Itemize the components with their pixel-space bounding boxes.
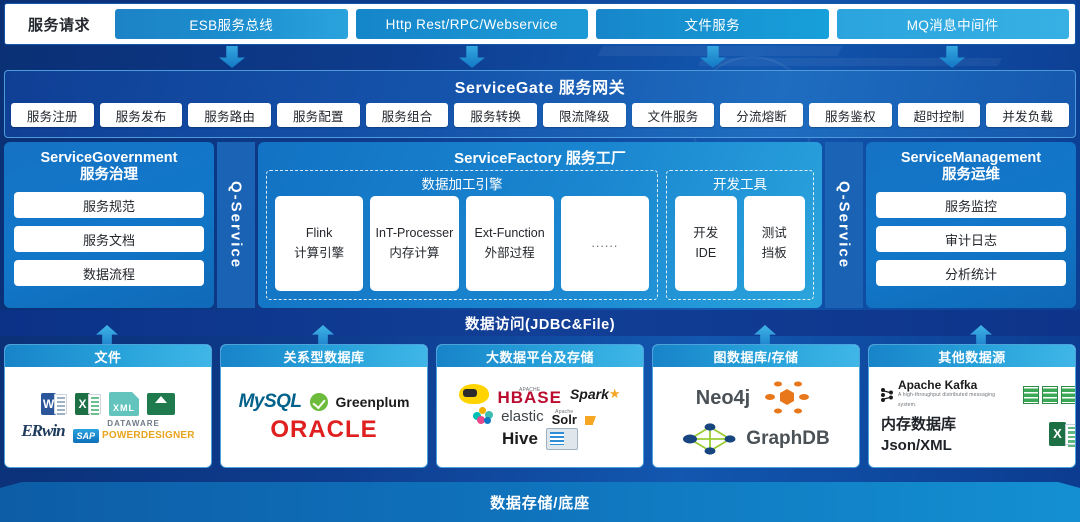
graphdb-logo: GraphDB — [746, 428, 829, 450]
engine-cell-ext-function[interactable]: Ext-Function 外部过程 — [466, 196, 554, 291]
engine-cell-int-processer-top: InT-Processer — [375, 226, 453, 241]
xml-icon: XML — [109, 392, 139, 416]
gate-capability-throttle[interactable]: 限流降级 — [543, 103, 626, 127]
service-request-label: 服务请求 — [11, 14, 107, 35]
elastic-logo: elastic — [501, 408, 544, 425]
tools-cell-ide-top: 开发 — [693, 226, 718, 241]
source-panel-other: 其他数据源 Apache Kafka A high-throu — [868, 344, 1076, 468]
governance-item-doc[interactable]: 服务文档 — [14, 226, 204, 252]
flow-arrow-down-icon — [219, 46, 245, 68]
source-panel-bigdata-title: 大数据平台及存储 — [437, 345, 643, 367]
gate-capability-circuitbreak[interactable]: 分流熔断 — [720, 103, 803, 127]
q-service-left-label: Q-Service — [228, 181, 245, 269]
dev-tools-cells: 开发 IDE 测试 挡板 — [675, 196, 805, 291]
kafka-mark-icon — [879, 387, 895, 403]
channel-http[interactable]: Http Rest/RPC/Webservice — [356, 9, 589, 39]
gate-capability-register[interactable]: 服务注册 — [11, 103, 94, 127]
engine-cell-flink-top: Flink — [306, 226, 332, 241]
other-logo-row-1: Apache Kafka A high-throughput distribut… — [873, 380, 1076, 410]
engine-cell-more[interactable]: ...... — [561, 196, 649, 291]
service-factory-panel: ServiceFactory 服务工厂 数据加工引擎 Flink 计算引擎 In… — [258, 142, 822, 308]
source-panel-bigdata: 大数据平台及存储 APACHE HBASE Spark ★ — [436, 344, 644, 468]
gate-capability-route[interactable]: 服务路由 — [188, 103, 271, 127]
excel-icon: X — [75, 393, 101, 415]
graph-logo-row-2: GraphDB — [657, 422, 855, 456]
graph-logo-row-1: Neo4j — [657, 379, 855, 419]
solr-logo: Solr — [552, 416, 577, 424]
source-panel-other-title: 其他数据源 — [869, 345, 1075, 367]
source-panel-relational-db-body: MySQL Greenplum ORACLE — [221, 367, 427, 467]
erwin-logo: ERwin — [21, 421, 64, 441]
tools-cell-test[interactable]: 测试 挡板 — [744, 196, 806, 291]
gate-capability-timeout[interactable]: 超时控制 — [898, 103, 981, 127]
hive-logo: Hive — [502, 429, 538, 449]
hadoop-hive-logo — [459, 384, 489, 404]
in-memory-db-label: 内存数据库 — [881, 413, 956, 434]
tools-cell-ide-bottom: IDE — [695, 246, 716, 261]
data-storage-base-label: 数据存储/底座 — [490, 492, 590, 513]
service-factory-title: ServiceFactory 服务工厂 — [266, 148, 814, 170]
bigdata-logo-row-3: Hive — [441, 428, 639, 450]
tools-cell-test-bottom: 挡板 — [762, 246, 787, 261]
source-panel-relational-db: 关系型数据库 MySQL Greenplum ORACLE — [220, 344, 428, 468]
greenplum-logo: Greenplum — [336, 394, 410, 410]
source-panel-graph-db-title: 图数据库/存储 — [653, 345, 859, 367]
word-icon: W — [41, 393, 67, 415]
table-icon — [1023, 386, 1076, 404]
q-service-right-label: Q-Service — [836, 181, 853, 269]
source-panel-relational-db-title: 关系型数据库 — [221, 345, 427, 367]
source-panel-other-body: Apache Kafka A high-throughput distribut… — [869, 367, 1075, 467]
dataware-logo: DATAWARE — [107, 419, 160, 428]
bigdata-logo-row-1: APACHE HBASE Spark ★ — [441, 384, 639, 404]
service-gate-panel: ServiceGate 服务网关 服务注册 服务发布 服务路由 服务配置 服务组… — [4, 70, 1076, 138]
service-request-bar: 服务请求 ESB服务总线 Http Rest/RPC/Webservice 文件… — [4, 3, 1076, 45]
governance-item-spec[interactable]: 服务规范 — [14, 192, 204, 218]
mysql-logo: MySQL — [239, 391, 302, 413]
source-panel-graph-db-body: Neo4j — [653, 367, 859, 467]
dev-tools-title: 开发工具 — [675, 174, 805, 196]
data-processing-engine-title: 数据加工引擎 — [275, 174, 649, 196]
service-management-panel: ServiceManagement 服务运维 服务监控 审计日志 分析统计 — [866, 142, 1076, 308]
engine-cell-more-top: ...... — [591, 236, 618, 251]
flow-arrow-down-icon — [700, 46, 726, 68]
q-service-right-rail: Q-Service — [825, 142, 863, 308]
sap-logo: SAP — [73, 429, 100, 443]
service-gate-title: ServiceGate 服务网关 — [11, 76, 1069, 101]
channel-mq[interactable]: MQ消息中间件 — [837, 9, 1070, 39]
decor-streak — [597, 46, 842, 56]
service-government-panel: ServiceGovernment 服务治理 服务规范 服务文档 数据流程 — [4, 142, 214, 308]
platform-middle-band: ServiceGovernment 服务治理 服务规范 服务文档 数据流程 Q-… — [4, 142, 1076, 308]
source-panel-bigdata-body: APACHE HBASE Spark ★ — [437, 367, 643, 467]
tools-cell-ide[interactable]: 开发 IDE — [675, 196, 737, 291]
engine-cell-flink[interactable]: Flink 计算引擎 — [275, 196, 363, 291]
service-management-title-en: ServiceManagement — [901, 150, 1041, 166]
gate-capability-compose[interactable]: 服务组合 — [366, 103, 449, 127]
gate-capability-publish[interactable]: 服务发布 — [100, 103, 183, 127]
excel-icon: X — [1049, 422, 1076, 446]
gate-capability-auth[interactable]: 服务鉴权 — [809, 103, 892, 127]
source-panel-graph-db: 图数据库/存储 Neo4j — [652, 344, 860, 468]
q-service-left-rail: Q-Service — [217, 142, 255, 308]
engine-cell-ext-function-top: Ext-Function — [475, 226, 545, 241]
kafka-logo: Apache Kafka — [898, 380, 1015, 390]
governance-item-flow[interactable]: 数据流程 — [14, 260, 204, 286]
json-xml-label: Json/XML — [881, 437, 952, 454]
other-logo-row-2: 内存数据库 Json/XML X — [873, 413, 1076, 454]
channel-file[interactable]: 文件服务 — [596, 9, 829, 39]
hive-file-icon — [546, 428, 578, 450]
flow-arrow-down-icon — [939, 46, 965, 68]
service-management-title: ServiceManagement 服务运维 — [876, 150, 1066, 184]
spark-star-icon: ★ — [609, 386, 621, 402]
service-government-title-en: ServiceGovernment — [40, 150, 177, 166]
flow-arrow-down-icon — [459, 46, 485, 68]
data-access-label: 数据访问(JDBC&File) — [465, 313, 615, 334]
tools-cell-test-top: 测试 — [762, 226, 787, 241]
relational-logo-row-2: ORACLE — [225, 416, 423, 444]
diagram-root: 服务请求 ESB服务总线 Http Rest/RPC/Webservice 文件… — [0, 0, 1080, 522]
elastic-mark-icon — [473, 407, 493, 425]
management-item-monitor[interactable]: 服务监控 — [876, 192, 1066, 218]
source-panel-file: 文件 W X XML ERwin D — [4, 344, 212, 468]
hbase-logo: HBASE — [497, 394, 562, 402]
engine-cell-int-processer-bottom: 内存计算 — [389, 246, 439, 261]
gate-capability-fileservice[interactable]: 文件服务 — [632, 103, 715, 127]
engine-cells: Flink 计算引擎 InT-Processer 内存计算 Ext-Functi… — [275, 196, 649, 291]
data-processing-engine-group: 数据加工引擎 Flink 计算引擎 InT-Processer 内存计算 Ext… — [266, 170, 658, 300]
dev-tools-group: 开发工具 开发 IDE 测试 挡板 — [666, 170, 814, 300]
kafka-tagline: A high-throughput distributed messaging … — [898, 390, 1015, 410]
source-panel-file-title: 文件 — [5, 345, 211, 367]
relational-logo-row-1: MySQL Greenplum — [225, 391, 423, 413]
service-factory-body: 数据加工引擎 Flink 计算引擎 InT-Processer 内存计算 Ext… — [266, 170, 814, 300]
csv-icon — [147, 393, 175, 415]
solr-burst-icon — [585, 407, 607, 425]
engine-cell-ext-function-bottom: 外部过程 — [485, 246, 535, 261]
graphdb-burst-icon — [758, 379, 816, 419]
service-gate-capabilities: 服务注册 服务发布 服务路由 服务配置 服务组合 服务转换 限流降级 文件服务 … — [11, 103, 1069, 127]
service-government-title-cn: 服务治理 — [14, 167, 204, 184]
source-panel-file-body: W X XML ERwin DATAWARE SAP — [5, 367, 211, 467]
bigdata-logo-row-2: elastic Apache Solr — [441, 407, 639, 425]
neo4j-graph-icon — [682, 422, 738, 456]
oracle-logo: ORACLE — [270, 416, 377, 444]
powerdesigner-logo: POWERDESIGNER — [102, 430, 195, 441]
spark-logo: Spark — [570, 386, 609, 402]
engine-cell-int-processer[interactable]: InT-Processer 内存计算 — [370, 196, 458, 291]
engine-cell-flink-bottom: 计算引擎 — [294, 246, 344, 261]
service-management-title-cn: 服务运维 — [876, 167, 1066, 184]
file-logo-row-2: ERwin DATAWARE SAP POWERDESIGNER — [9, 419, 207, 443]
gate-capability-transform[interactable]: 服务转换 — [454, 103, 537, 127]
neo4j-logo: Neo4j — [696, 387, 750, 410]
management-item-analytics[interactable]: 分析统计 — [876, 260, 1066, 286]
data-source-panels: 文件 W X XML ERwin D — [4, 344, 1076, 468]
file-logo-row-1: W X XML — [9, 392, 207, 416]
channel-esb[interactable]: ESB服务总线 — [115, 9, 348, 39]
data-access-bar: 数据访问(JDBC&File) — [0, 310, 1080, 336]
greenplum-mark-icon — [310, 393, 328, 411]
data-storage-base-bar: 数据存储/底座 — [0, 482, 1080, 522]
gate-capability-config[interactable]: 服务配置 — [277, 103, 360, 127]
management-item-audit[interactable]: 审计日志 — [876, 226, 1066, 252]
gate-capability-concurrency[interactable]: 并发负载 — [986, 103, 1069, 127]
service-government-title: ServiceGovernment 服务治理 — [14, 150, 204, 184]
